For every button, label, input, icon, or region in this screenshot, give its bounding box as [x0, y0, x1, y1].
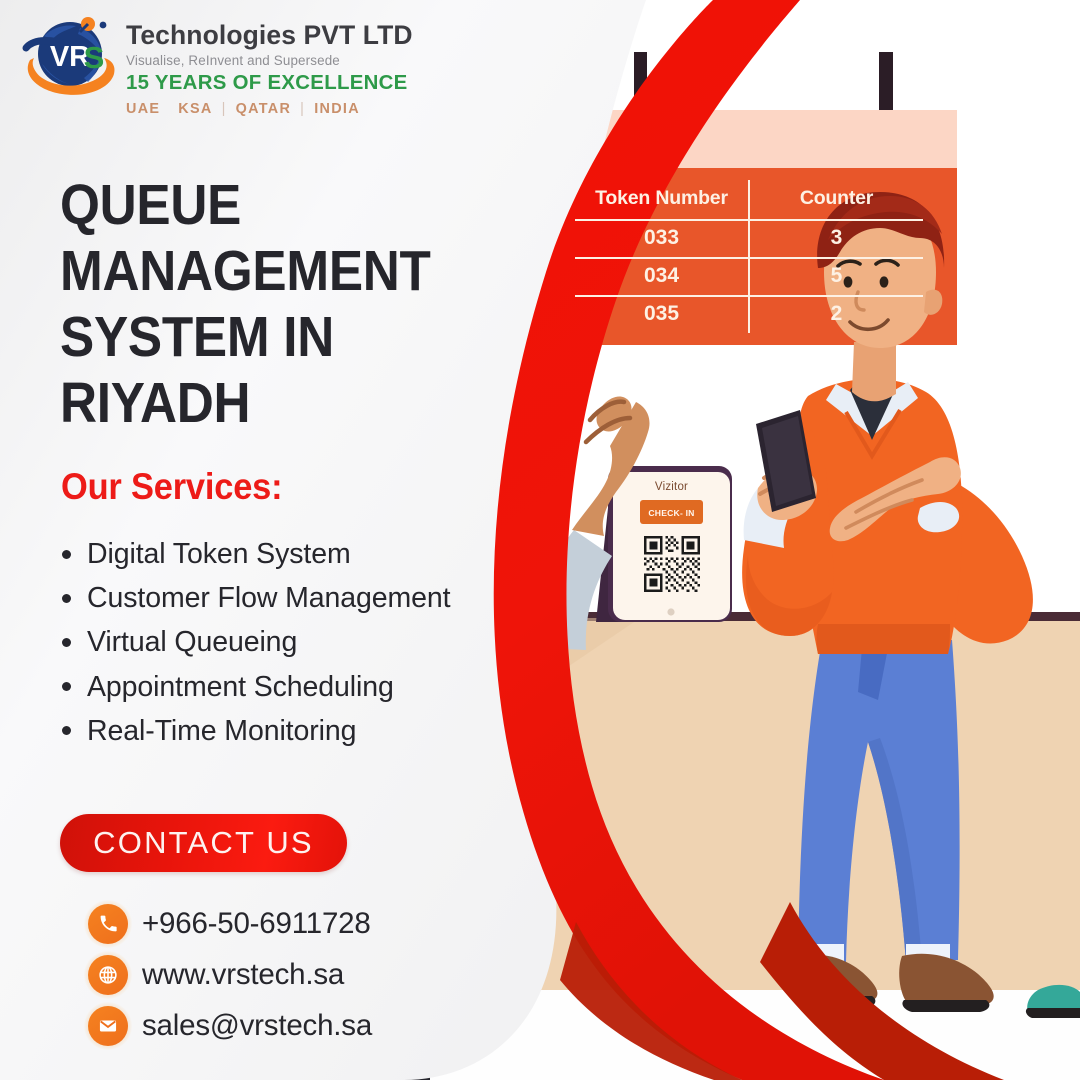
- brand-logo[interactable]: VR S Technologies PVT LTD Visualise, ReI…: [18, 12, 413, 117]
- list-item: Appointment Scheduling: [55, 665, 515, 709]
- kiosk-app-name: Vizitor: [655, 481, 688, 493]
- token-cell-number: 034: [575, 258, 749, 296]
- contact-us-button[interactable]: CONTACT US: [60, 814, 347, 872]
- table-row: 035 2: [575, 296, 923, 333]
- token-cell-number: 035: [575, 296, 749, 333]
- token-cell-counter: 5: [749, 258, 923, 296]
- poster-canvas: Token Number Counter 033 3 034 5 035: [0, 0, 1080, 1080]
- list-item: Virtual Queueing: [55, 620, 515, 664]
- services-list: Digital Token System Customer Flow Manag…: [55, 532, 515, 753]
- contact-row-phone[interactable]: +966-50-6911728: [88, 898, 372, 949]
- page-title: QUEUE MANAGEMENT SYSTEM IN RIYADH: [60, 172, 447, 436]
- qr-code-icon: [644, 536, 700, 592]
- website-url: www.vrstech.sa: [142, 958, 344, 992]
- token-board: Token Number Counter 033 3 034 5 035: [575, 180, 923, 333]
- services-heading: Our Services:: [61, 466, 282, 508]
- country-india: INDIA: [305, 101, 369, 117]
- table-row: 034 5: [575, 258, 923, 296]
- list-item: Customer Flow Management: [55, 576, 515, 620]
- phone-icon: [88, 904, 128, 944]
- token-cell-counter: 3: [749, 220, 923, 258]
- envelope-icon: [88, 1006, 128, 1046]
- brand-logo-text: Technologies PVT LTD Visualise, ReInvent…: [126, 12, 413, 117]
- contact-row-website[interactable]: www.vrstech.sa: [88, 949, 372, 1000]
- kiosk-screen: Vizitor CHECK- IN: [613, 472, 730, 620]
- brand-company-line: Technologies PVT LTD: [126, 22, 413, 50]
- kiosk-checkin-button[interactable]: CHECK- IN: [640, 500, 702, 524]
- vrs-globe-logo-icon: VR S: [18, 12, 122, 108]
- contact-row-email[interactable]: sales@vrstech.sa: [88, 1000, 372, 1051]
- contact-us-label: CONTACT US: [93, 825, 314, 861]
- country-uae: UAE: [126, 101, 169, 117]
- token-table: Token Number Counter 033 3 034 5 035: [575, 180, 923, 333]
- token-col-header-token: Token Number: [575, 180, 749, 220]
- kiosk-checkin-label: CHECK- IN: [648, 508, 694, 518]
- token-cell-number: 033: [575, 220, 749, 258]
- country-ksa: KSA: [169, 101, 221, 117]
- country-qatar: QATAR: [227, 101, 301, 117]
- brand-tagline: Visualise, ReInvent and Supersede: [126, 53, 413, 68]
- token-table-header-row: Token Number Counter: [575, 180, 923, 220]
- contact-info-block: +966-50-6911728 www.vrstech.sa: [88, 898, 372, 1051]
- brand-excellence-line: 15 YEARS OF EXCELLENCE: [126, 72, 413, 95]
- token-col-header-counter: Counter: [749, 180, 923, 220]
- token-cell-counter: 2: [749, 296, 923, 333]
- globe-icon: [88, 955, 128, 995]
- email-address: sales@vrstech.sa: [142, 1009, 372, 1043]
- left-content-column: VR S Technologies PVT LTD Visualise, ReI…: [0, 0, 540, 1080]
- list-item: Real-Time Monitoring: [55, 709, 515, 753]
- list-item: Digital Token System: [55, 532, 515, 576]
- table-row: 033 3: [575, 220, 923, 258]
- brand-country-list: UAE KSA | QATAR | INDIA: [126, 101, 413, 117]
- svg-text:S: S: [84, 40, 105, 75]
- phone-number: +966-50-6911728: [142, 907, 371, 941]
